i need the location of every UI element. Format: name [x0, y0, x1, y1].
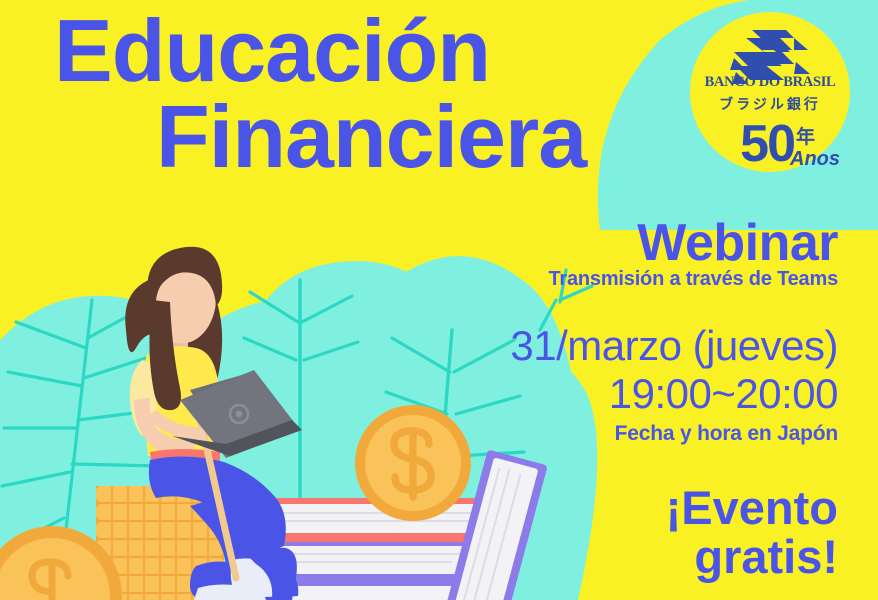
- free-event-line-1: ¡Evento: [518, 484, 838, 533]
- anniversary-number: 50: [704, 114, 794, 174]
- free-event-callout: ¡Evento gratis!: [518, 484, 838, 582]
- page-title: Educación Financiera: [44, 8, 704, 180]
- bb-japanese-name: ブラジル銀行: [690, 94, 850, 114]
- title-line-2: Financiera: [44, 94, 704, 180]
- event-time: 19:00~20:00: [609, 370, 838, 418]
- gold-coin-dollar: [355, 405, 471, 521]
- banco-do-brasil-logo-badge: BANCO DO BRASIL ブラジル銀行 50 年 Anos: [690, 12, 850, 172]
- event-timezone-note: Fecha y hora en Japón: [615, 422, 838, 446]
- anniversary-word: Anos: [790, 148, 840, 171]
- free-event-line-2: gratis!: [518, 533, 838, 582]
- title-line-1: Educación: [44, 8, 704, 94]
- event-type-label: Webinar: [637, 213, 838, 273]
- poster-canvas: BANCO DO BRASIL ブラジル銀行 50 年 Anos Educaci…: [0, 0, 878, 600]
- bb-wordmark: BANCO DO BRASIL: [690, 74, 850, 91]
- event-platform-note: Transmisión a través de Teams: [548, 268, 838, 291]
- event-date: 31/marzo (jueves): [510, 322, 838, 370]
- anniversary-kanji: 年: [796, 122, 815, 149]
